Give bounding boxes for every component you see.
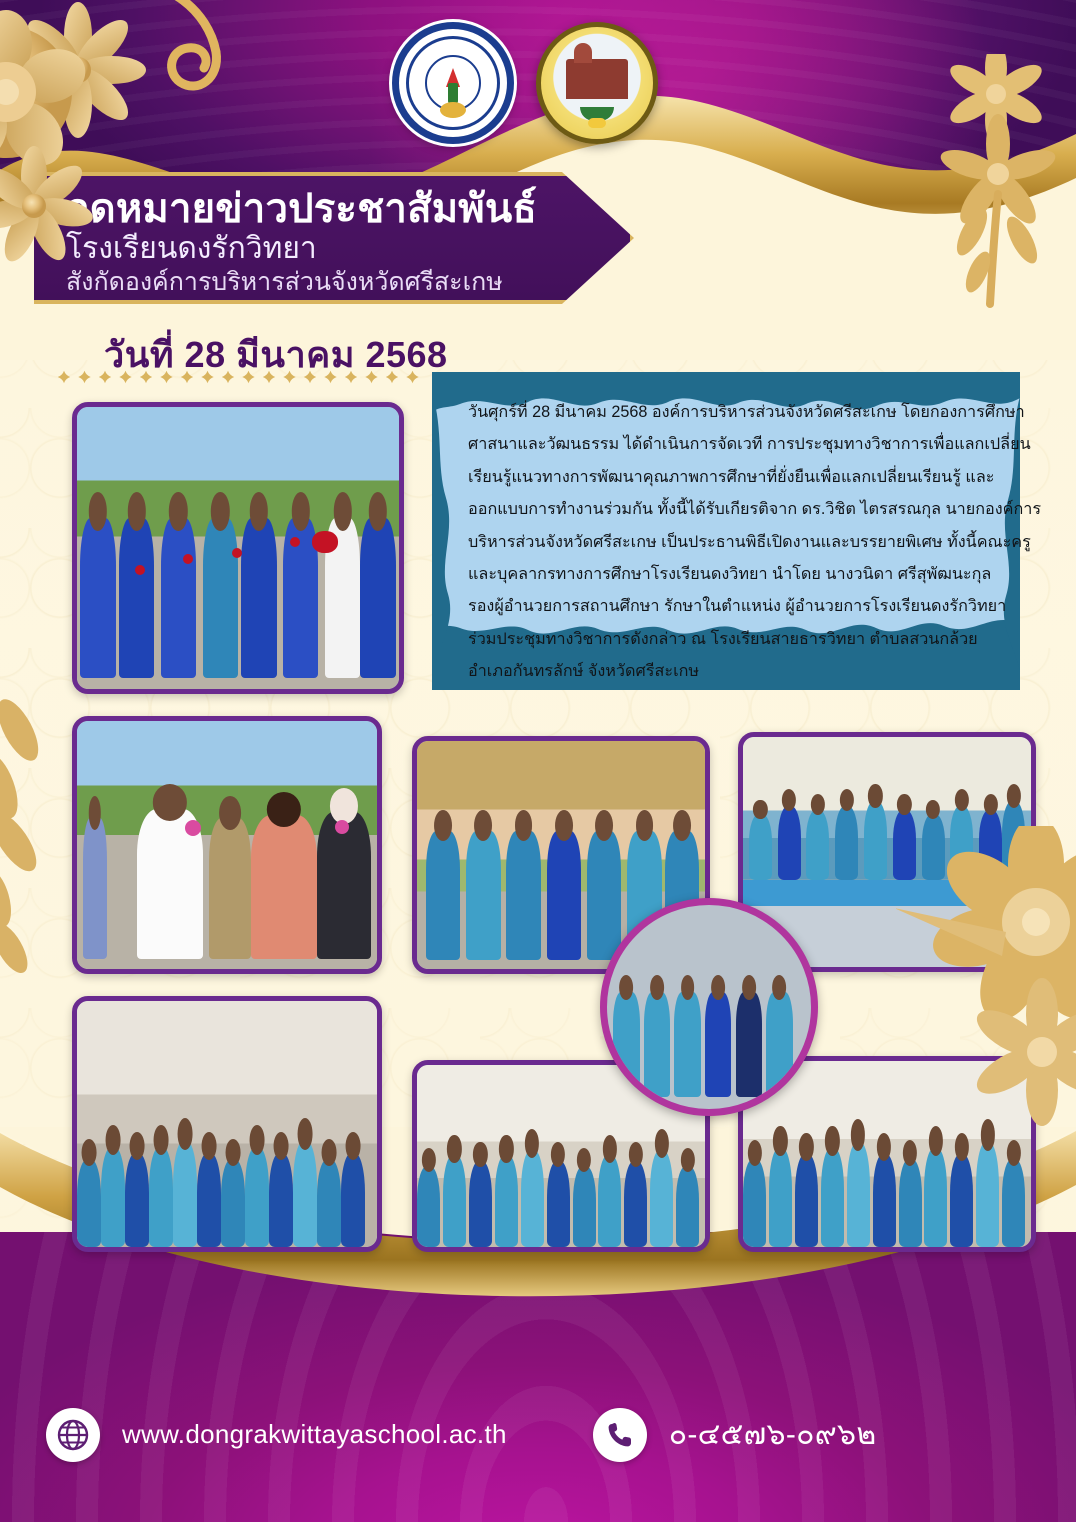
school-name: โรงเรียนดงรักวิทยา	[66, 232, 630, 267]
logo-group	[392, 22, 658, 144]
news-line: รองผู้อำนวยการสถานศึกษา รักษาในตำแหน่ง ผ…	[468, 590, 1006, 622]
news-body-text: วันศุกร์ที่ 28 มีนาคม 2568 องค์การบริหาร…	[468, 396, 1006, 688]
news-line: บริหารส่วนจังหวัดศรีสะเกษ เป็นประธานพิธี…	[468, 526, 1006, 558]
photo-rose-greeting-line[interactable]	[72, 402, 404, 694]
news-line: และบุคลากรทางการศึกษาโรงเรียนดงวิทยา นำโ…	[468, 558, 1006, 590]
footer-contact-row: www.dongrakwittayaschool.ac.th ๐-๔๕๗๖-๐๙…	[0, 1347, 1076, 1522]
footer-website[interactable]: www.dongrakwittayaschool.ac.th	[46, 1408, 507, 1462]
photo-welcome-ceremony-hall[interactable]	[72, 996, 382, 1252]
footer-phone[interactable]: ๐-๔๕๗๖-๐๙๖๒	[593, 1408, 877, 1462]
photo-image	[77, 407, 399, 689]
photo-corsage-pinning[interactable]	[72, 716, 382, 974]
phone-icon	[593, 1408, 647, 1462]
news-text-box: วันศุกร์ที่ 28 มีนาคม 2568 องค์การบริหาร…	[432, 372, 1020, 690]
newsletter-title-banner: จดหมายข่าวประชาสัมพันธ์ โรงเรียนดงรักวิท…	[34, 172, 634, 304]
page-title: จดหมายข่าวประชาสัมพันธ์	[66, 188, 630, 230]
photo-image	[77, 721, 377, 969]
phone-number[interactable]: ๐-๔๕๗๖-๐๙๖๒	[669, 1411, 877, 1458]
news-line: ออกแบบการทำงานร่วมกัน ทั้งนี้ได้รับเกียร…	[468, 493, 1006, 525]
photo-image	[77, 1001, 377, 1247]
news-line: อำเภอกันทรลักษ์ จังหวัดศรีสะเกษ	[468, 655, 1006, 687]
news-line: เรียนรู้แนวทางการพัฒนาคุณภาพการศึกษาที่ย…	[468, 461, 1006, 493]
provincial-seal-icon	[536, 22, 658, 144]
affiliation: สังกัดองค์การบริหารส่วนจังหวัดศรีสะเกษ	[66, 268, 630, 297]
news-line: ศาสนาและวัฒนธรรม ได้ดำเนินการจัดเวที การ…	[468, 428, 1006, 460]
diamond-divider	[58, 368, 446, 386]
news-line: ร่วมประชุมทางวิชาการดังกล่าว ณ โรงเรียนส…	[468, 623, 1006, 655]
website-url[interactable]: www.dongrakwittayaschool.ac.th	[122, 1419, 507, 1450]
newsletter-poster: จดหมายข่าวประชาสัมพันธ์ โรงเรียนดงรักวิท…	[0, 0, 1076, 1522]
news-line: วันศุกร์ที่ 28 มีนาคม 2568 องค์การบริหาร…	[468, 396, 1006, 428]
globe-icon	[46, 1408, 100, 1462]
photo-circle-teachers-group[interactable]	[600, 898, 818, 1116]
school-seal-icon	[392, 22, 514, 144]
